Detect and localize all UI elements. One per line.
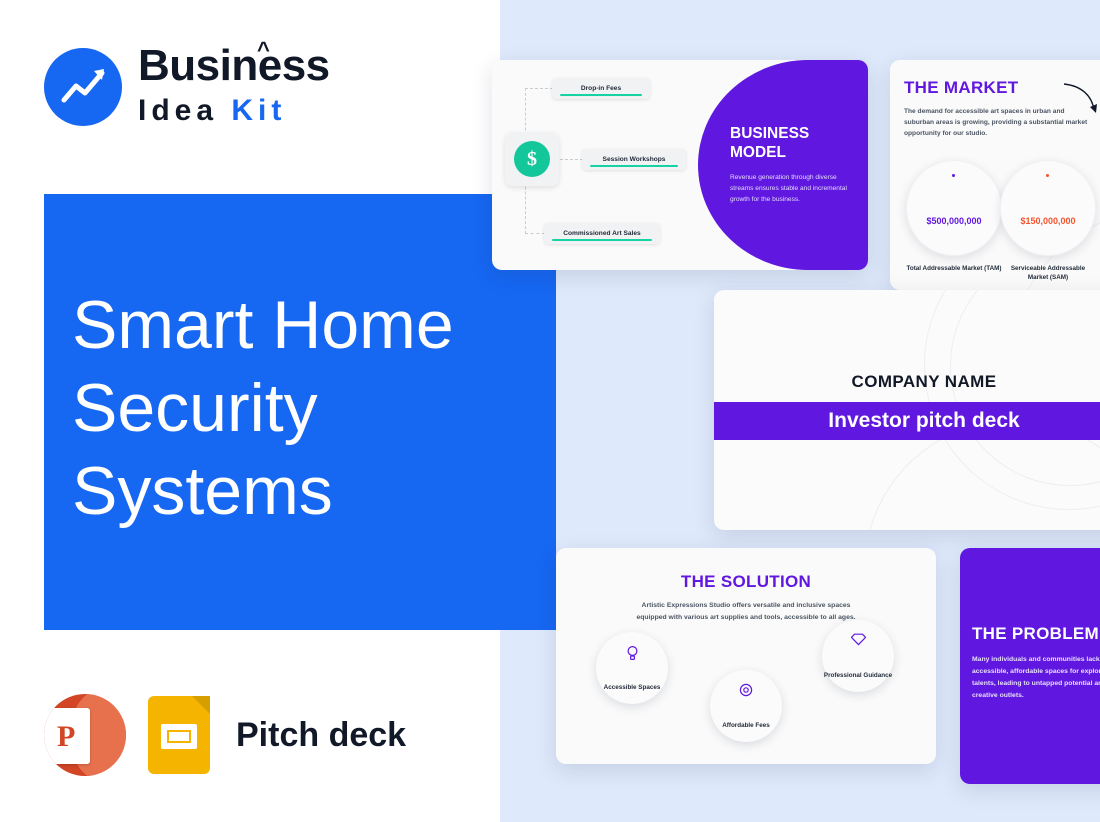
gauge-sam-value: $150,000,000 [1000, 216, 1096, 226]
logo-line-ideakit: Idea Kit [138, 92, 330, 130]
business-model-body: Revenue generation through diverse strea… [730, 173, 854, 206]
gauge-tam: $500,000,000 Total Addressable Market (T… [906, 160, 1002, 273]
curved-arrow-icon [1062, 80, 1100, 120]
company-name-band: Investor pitch deck [714, 402, 1100, 440]
lightbulb-icon [626, 645, 639, 664]
solution-bubble-label: Accessible Spaces [604, 683, 661, 692]
problem-body: Many individuals and communities lack ac… [972, 654, 1100, 702]
target-icon [739, 683, 753, 700]
logo-kit-text: Kit [231, 94, 286, 127]
google-slides-file-icon [148, 696, 210, 774]
market-title: THE MARKET [904, 78, 1018, 98]
page-title: Smart Home Security Systems [72, 284, 542, 533]
gauge-sam-caption: Serviceable Addressable Market (SAM) [1000, 264, 1096, 283]
solution-title: THE SOLUTION [556, 572, 936, 592]
chart-arrow-up-icon [44, 48, 122, 126]
business-model-title: BUSINESS MODEL [730, 125, 852, 162]
logo-accent-icon: ^ [257, 39, 269, 61]
solution-bubble[interactable]: Accessible Spaces [596, 632, 668, 704]
logo-line-business-text: Business [138, 41, 330, 90]
dollar-circle-icon: $ [505, 132, 559, 186]
logo-idea-text: Idea [138, 94, 218, 127]
problem-title: THE PROBLEM [972, 624, 1099, 644]
gauge-sam: $150,000,000 Serviceable Addressable Mar… [1000, 160, 1096, 283]
format-badges: P Pitch deck [44, 694, 406, 776]
business-model-item[interactable]: Drop-in Fees [552, 78, 650, 99]
powerpoint-letter: P [57, 720, 75, 754]
solution-bubble-label: Affordable Fees [722, 721, 770, 730]
badge-label: Pitch deck [236, 716, 406, 755]
business-model-item[interactable]: Commissioned Art Sales [544, 223, 660, 244]
gauge-tam-caption: Total Addressable Market (TAM) [906, 264, 1002, 273]
business-model-item[interactable]: Session Workshops [582, 149, 686, 170]
brand-logo: Business ^ Idea Kit [44, 44, 330, 130]
gauge-tam-value: $500,000,000 [906, 216, 1002, 226]
diagram-connector-top [525, 88, 553, 89]
logo-line-business: Business ^ [138, 44, 330, 88]
solution-bubble[interactable]: Affordable Fees [710, 670, 782, 742]
business-model-purple-shape [698, 60, 868, 270]
solution-body: Artistic Expressions Studio offers versa… [631, 600, 861, 623]
slide-card-problem[interactable]: THE PROBLEM Many individuals and communi… [960, 548, 1100, 784]
solution-bubble[interactable]: Professional Guidance [822, 620, 894, 692]
company-name-title: COMPANY NAME [714, 372, 1100, 392]
solution-bubble-label: Professional Guidance [824, 671, 892, 680]
diamond-icon [851, 633, 866, 649]
powerpoint-file-icon: P [44, 694, 126, 776]
slide-card-company-name[interactable]: COMPANY NAME Investor pitch deck [714, 290, 1100, 530]
diagram-connector-bottom [525, 233, 545, 234]
